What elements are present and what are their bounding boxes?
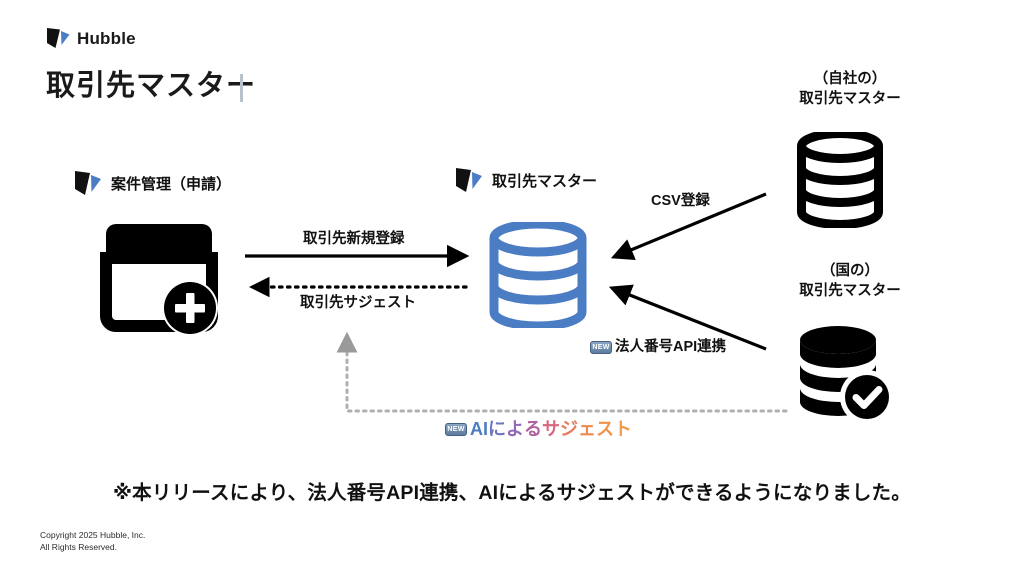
partner-master-label: 取引先マスター <box>492 170 597 191</box>
arrow-label-ai-suggest: NEW AIによるサジェスト <box>445 419 632 441</box>
national-master-label: （国の） 取引先マスター <box>770 262 930 301</box>
case-management-label: 案件管理（申請） <box>111 173 231 194</box>
hubble-triangle-mark-icon <box>46 27 72 49</box>
ai-suggest-segment: ジ <box>560 419 578 441</box>
arrow-label-corporate-api: NEW法人番号API連携 <box>590 339 726 356</box>
national-master-label-line2: 取引先マスター <box>770 282 930 302</box>
database-blue-icon[interactable] <box>488 222 588 328</box>
arrow-label-csv: CSV登録 <box>651 193 710 210</box>
own-master-label-line2: 取引先マスター <box>770 90 930 110</box>
ai-suggest-text: AIによるサジェスト <box>470 419 632 441</box>
hubble-triangle-mark-icon <box>455 167 485 193</box>
case-management-header: 案件管理（申請） <box>74 170 231 196</box>
copyright: Copyright 2025 Hubble, Inc. All Rights R… <box>40 529 145 554</box>
title-caret-icon <box>240 74 243 102</box>
arrow-label-register: 取引先新規登録 <box>303 231 405 248</box>
arrow-label-suggest: 取引先サジェスト <box>300 295 416 312</box>
hubble-triangle-mark-icon <box>74 170 104 196</box>
own-master-label: （自社の） 取引先マスター <box>770 70 930 109</box>
ai-suggest-segment: よ <box>506 419 524 441</box>
ai-suggest-segment: に <box>488 419 506 441</box>
ai-suggest-segment: ス <box>596 419 614 441</box>
page-title: 取引先マスター <box>46 70 256 103</box>
ai-suggest-segment: る <box>524 419 542 441</box>
own-master-label-line1: （自社の） <box>770 70 930 90</box>
ai-suggest-segment: AI <box>470 419 488 441</box>
new-badge: NEW <box>445 423 467 436</box>
partner-master-header: 取引先マスター <box>455 167 597 193</box>
hubble-logo: Hubble <box>46 27 136 49</box>
copyright-line1: Copyright 2025 Hubble, Inc. <box>40 529 145 541</box>
corporate-api-text: 法人番号API連携 <box>615 339 726 355</box>
new-badge: NEW <box>590 341 612 354</box>
ai-suggest-segment: サ <box>542 419 560 441</box>
logo-text: Hubble <box>77 30 136 47</box>
window-add-icon[interactable] <box>100 224 218 336</box>
database-verified-icon[interactable] <box>796 324 892 424</box>
slide-canvas: Hubble 取引先マスター 案件管理（申請） 取引先マスター <box>0 0 1024 576</box>
release-footnote: ※本リリースにより、法人番号API連携、AIによるサジェストができるようになりま… <box>0 476 1024 505</box>
copyright-line2: All Rights Reserved. <box>40 541 145 553</box>
database-outline-icon[interactable] <box>796 132 884 228</box>
ai-suggest-segment: ェ <box>578 419 596 441</box>
national-master-label-line1: （国の） <box>770 262 930 282</box>
ai-suggest-segment: ト <box>614 419 632 441</box>
